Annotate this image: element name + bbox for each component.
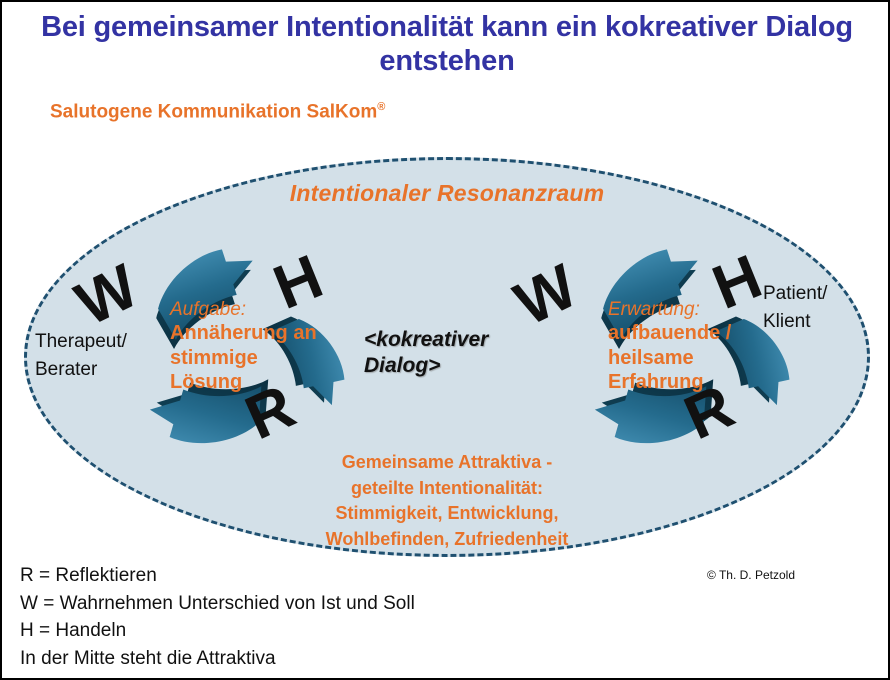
subtitle-text: Salutogene Kommunikation SalKom	[50, 101, 377, 122]
left-cycle-lead: Aufgabe:	[170, 298, 320, 321]
page-title: Bei gemeinsamer Intentionalität kann ein…	[20, 10, 874, 78]
left-cycle-body: Annäherung an stimmige Lösung	[170, 321, 320, 394]
attraktiva-line-4: Wohlbefinden, Zufriedenheit	[247, 527, 647, 553]
copyright-notice: © Th. D. Petzold	[707, 568, 795, 582]
legend-item-r: R = Reflektieren	[20, 562, 415, 590]
legend-item-h: H = Handeln	[20, 617, 415, 645]
actor-therapist-line2: Berater	[35, 356, 127, 384]
actor-label-patient: Patient/ Klient	[763, 280, 827, 335]
right-cycle-text: Erwartung: aufbauende / heilsame Erfahru…	[608, 298, 756, 394]
attraktiva-line-2: geteilte Intentionalität:	[247, 476, 647, 502]
actor-patient-line1: Patient/	[763, 280, 827, 308]
actor-patient-line2: Klient	[763, 308, 827, 336]
legend: R = Reflektieren W = Wahrnehmen Untersch…	[20, 562, 415, 672]
actor-label-therapist: Therapeut/ Berater	[35, 328, 127, 383]
left-cycle-text: Aufgabe: Annäherung an stimmige Lösung	[170, 298, 320, 394]
attraktiva-line-3: Stimmigkeit, Entwicklung,	[247, 501, 647, 527]
registered-mark-icon: ®	[377, 101, 385, 113]
right-cycle-lead: Erwartung:	[608, 298, 756, 321]
attraktiva-block: Gemeinsame Attraktiva - geteilte Intenti…	[247, 450, 647, 552]
center-dialog-label: <kokreativer Dialog>	[364, 327, 534, 380]
resonance-label: Intentionaler Resonanzraum	[2, 180, 890, 207]
right-cycle-body: aufbauende / heilsame Erfahrung	[608, 321, 756, 394]
attraktiva-line-1: Gemeinsame Attraktiva -	[247, 450, 647, 476]
slide-canvas: Bei gemeinsamer Intentionalität kann ein…	[0, 0, 890, 680]
actor-therapist-line1: Therapeut/	[35, 328, 127, 356]
legend-item-w: W = Wahrnehmen Unterschied von Ist und S…	[20, 590, 415, 618]
legend-item-mitte: In der Mitte steht die Attraktiva	[20, 645, 415, 673]
subtitle: Salutogene Kommunikation SalKom®	[50, 101, 385, 123]
